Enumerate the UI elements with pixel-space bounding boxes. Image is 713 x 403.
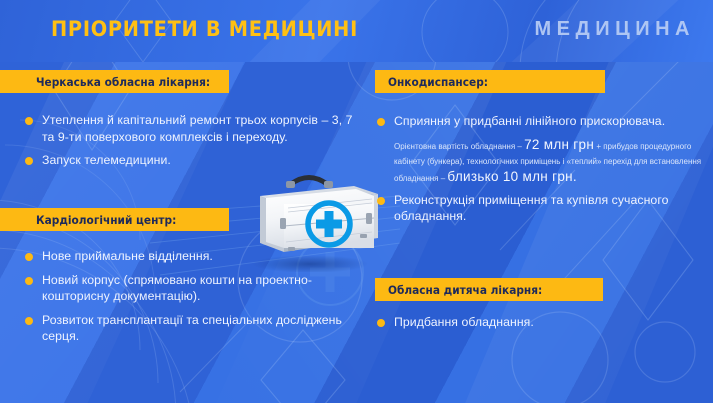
bullet-dot-icon	[25, 117, 33, 125]
list-item: Новий корпус (спрямовано кошти на проект…	[25, 272, 355, 305]
list-item: Придбання обладнання.	[377, 314, 709, 331]
section-bullets-oncology-dispensary: Сприяння у придбанні лінійного прискорюв…	[377, 113, 709, 232]
bullet-dot-icon	[25, 157, 33, 165]
case-latch-right	[366, 213, 372, 224]
section-label-cherkasy-regional-hospital: Черкаська обласна лікарня:	[0, 70, 229, 93]
section-label-oncology-dispensary: Онкодиспансер:	[375, 70, 605, 93]
bullet-text: Розвиток трансплантації та спеціальних д…	[42, 312, 355, 345]
bullet-text: Новий корпус (спрямовано кошти на проект…	[42, 272, 355, 305]
bullet-text: Реконструкція приміщення та купівля суча…	[394, 192, 709, 225]
bullet-text: Сприяння у придбанні лінійного прискорюв…	[394, 113, 665, 130]
bullet-dot-icon	[25, 317, 33, 325]
bullet-dot-icon	[377, 319, 385, 327]
oncology-cost-note: Орієнтовна вартість обладнання – 72 млн …	[394, 137, 709, 186]
list-item: Запуск телемедицини.	[25, 152, 355, 169]
section-label-text: Черкаська обласна лікарня:	[36, 75, 210, 89]
section-label-text: Онкодиспансер:	[388, 75, 488, 89]
note-amount-1: 72 млн грн	[524, 137, 594, 152]
bullet-dot-icon	[25, 277, 33, 285]
section-label-text: Кардіологічний центр:	[36, 213, 176, 227]
section-bullets-cardiology-center: Нове приймальне відділення. Новий корпус…	[25, 248, 355, 352]
slide-root: ПРІОРИТЕТИ В МЕДИЦИНІ МЕДИЦИНА	[0, 0, 713, 403]
section-label-text: Обласна дитяча лікарня:	[388, 283, 542, 297]
section-label-cardiology-center: Кардіологічний центр:	[0, 208, 229, 231]
bullet-dot-icon	[377, 118, 385, 126]
brand-label: МЕДИЦИНА	[535, 18, 696, 41]
bullet-text: Нове приймальне відділення.	[42, 248, 213, 265]
list-item: Реконструкція приміщення та купівля суча…	[377, 192, 709, 225]
case-handle	[286, 178, 333, 189]
note-part-1: Орієнтовна вартість обладнання –	[394, 142, 524, 151]
case-foot-right	[360, 234, 367, 238]
section-bullets-cherkasy-regional-hospital: Утеплення й капітальний ремонт трьох кор…	[25, 112, 355, 176]
page-title: ПРІОРИТЕТИ В МЕДИЦИНІ	[51, 17, 358, 42]
list-item: Розвиток трансплантації та спеціальних д…	[25, 312, 355, 345]
bullet-text: Утеплення й капітальний ремонт трьох кор…	[42, 112, 355, 145]
section-bullets-regional-childrens-hospital: Придбання обладнання.	[377, 314, 709, 338]
list-item: Сприяння у придбанні лінійного прискорюв…	[377, 113, 709, 130]
list-item: Нове приймальне відділення.	[25, 248, 355, 265]
bullet-text: Запуск телемедицини.	[42, 152, 171, 169]
bullet-dot-icon	[377, 197, 385, 205]
case-latch-left	[280, 218, 286, 229]
bullet-text: Придбання обладнання.	[394, 314, 534, 331]
list-item: Утеплення й капітальний ремонт трьох кор…	[25, 112, 355, 145]
note-amount-2: близько 10 млн грн.	[447, 169, 577, 184]
bullet-dot-icon	[25, 253, 33, 261]
header-bar: ПРІОРИТЕТИ В МЕДИЦИНІ МЕДИЦИНА	[0, 0, 713, 62]
section-label-regional-childrens-hospital: Обласна дитяча лікарня:	[375, 278, 603, 301]
